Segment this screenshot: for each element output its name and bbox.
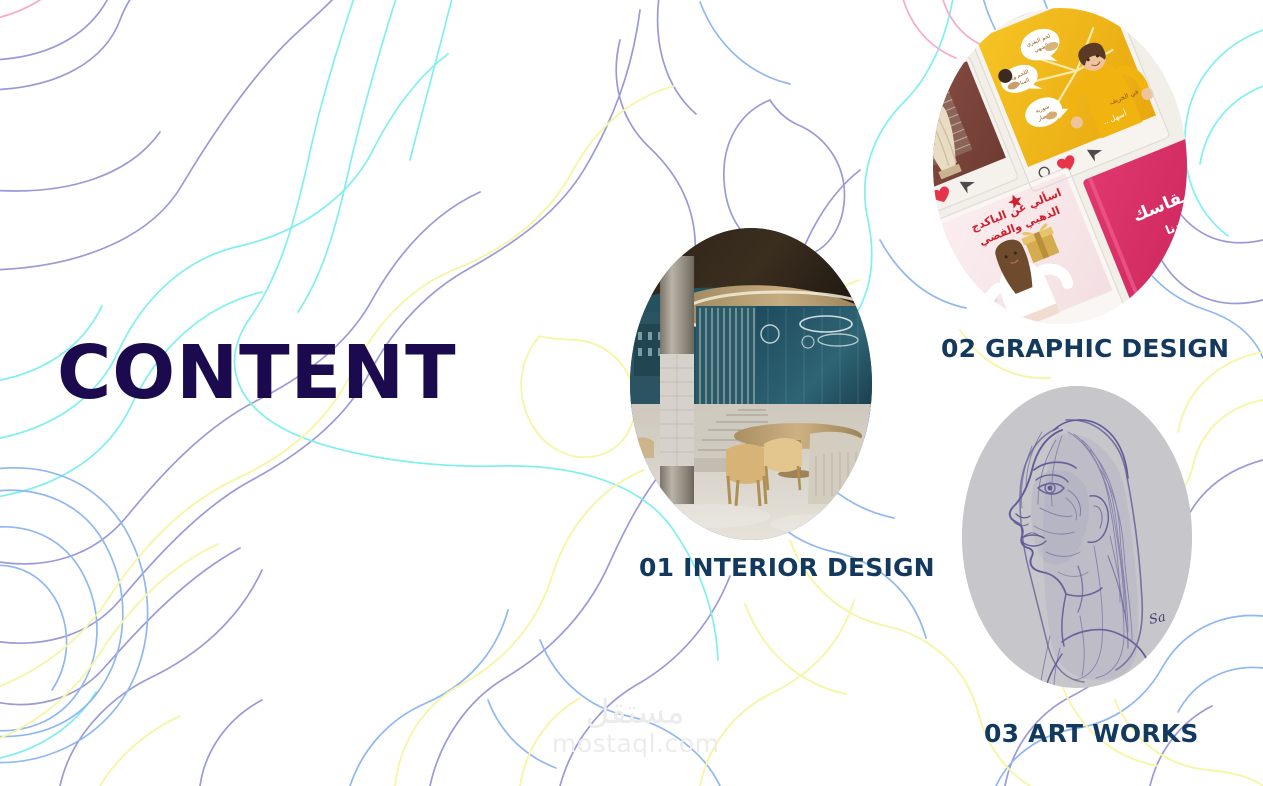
- content-item-graphic-design-image[interactable]: لحم البقريالشهي اللحم وياهالساخنة شوربةا…: [933, 8, 1187, 324]
- mostaql-watermark: مستقل mostaql.com: [552, 694, 718, 766]
- content-item-graphic-design-label: 02 GRAPHIC DESIGN: [941, 334, 1229, 363]
- interior-design-lobby-photo: [630, 228, 872, 540]
- content-item-art-works-label: 03 ART WORKS: [984, 719, 1199, 748]
- content-item-interior-design-label: 01 INTERIOR DESIGN: [639, 553, 935, 582]
- page-title: CONTENT: [57, 336, 457, 410]
- presentation-slide: CONTENT: [0, 0, 1263, 786]
- graphic-design-social-posts-collage: لحم البقريالشهي اللحم وياهالساخنة شوربةا…: [933, 8, 1187, 324]
- art-works-portrait-sketch: Sa: [962, 386, 1192, 688]
- content-item-art-works-image[interactable]: Sa: [962, 386, 1192, 688]
- watermark-arabic-text: مستقل: [552, 694, 718, 730]
- watermark-domain-text: mostaql.com: [552, 730, 718, 758]
- content-item-interior-design-image[interactable]: [630, 228, 872, 540]
